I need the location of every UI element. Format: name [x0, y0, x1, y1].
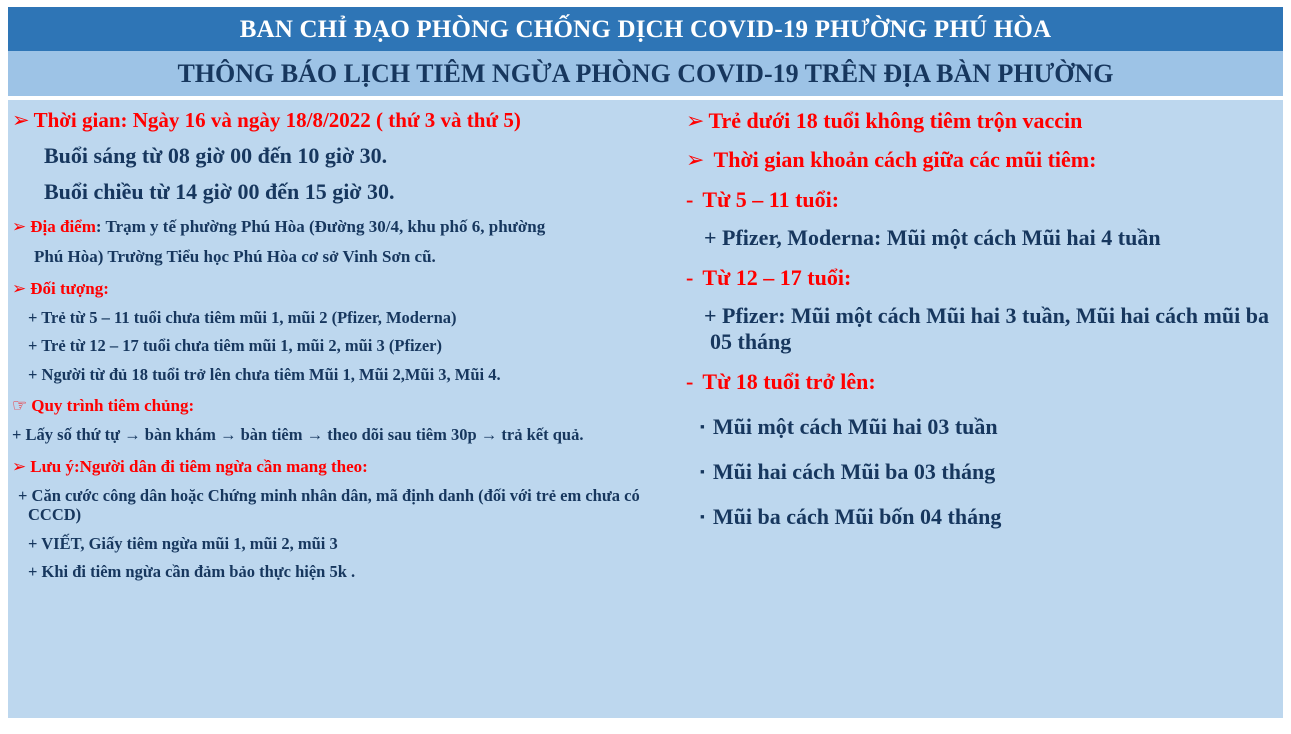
header-secondary-band: THÔNG BÁO LỊCH TIÊM NGỪA PHÒNG COVID-19 … [8, 51, 1283, 96]
age-group-5-11-detail: + Pfizer, Moderna: Mũi một cách Mũi hai … [686, 225, 1277, 251]
dose-interval-item: ▪Mũi một cách Mũi hai 03 tuần [686, 414, 1277, 440]
arrow-bullet-icon: ➢ [12, 279, 26, 299]
left-column: ➢Thời gian: Ngày 16 và ngày 18/8/2022 ( … [8, 100, 686, 718]
content-panel: ➢Thời gian: Ngày 16 và ngày 18/8/2022 ( … [8, 100, 1283, 718]
target-item: + Trẻ từ 12 – 17 tuổi chưa tiêm mũi 1, m… [12, 336, 682, 355]
dose-interval-text: Mũi ba cách Mũi bốn 04 tháng [713, 504, 1002, 529]
age-group-5-11-row: - Từ 5 – 11 tuổi: [686, 187, 1277, 213]
place-value-line2: Phú Hòa) Trường Tiểu học Phú Hòa cơ sở V… [12, 247, 682, 267]
note-item: + Căn cước công dân hoặc Chứng minh nhân… [12, 486, 682, 525]
dose-interval-text: Mũi hai cách Mũi ba 03 tháng [713, 459, 995, 484]
place-value: : Trạm y tế phường Phú Hòa (Đường 30/4, … [96, 217, 545, 236]
age-group-12-17-row: - Từ 12 – 17 tuổi: [686, 265, 1277, 291]
dash-bullet-icon: - [686, 187, 693, 213]
page-subtitle: THÔNG BÁO LỊCH TIÊM NGỪA PHÒNG COVID-19 … [177, 61, 1113, 87]
age-group-12-17-label: Từ 12 – 17 tuổi: [697, 265, 851, 290]
target-heading-text: Đối tượng: [30, 279, 109, 298]
note-item: + Khi đi tiêm ngừa cần đảm bảo thực hiện… [12, 562, 682, 581]
target-item: + Người từ đủ 18 tuổi trở lên chưa tiêm … [12, 365, 682, 384]
dose-interval-item: ▪Mũi hai cách Mũi ba 03 tháng [686, 459, 1277, 485]
interval-heading-text: Thời gian khoản cách giữa các mũi tiêm: [708, 147, 1096, 172]
poster-root: BAN CHỈ ĐẠO PHÒNG CHỐNG DỊCH COVID-19 PH… [0, 0, 1291, 734]
square-bullet-icon: ▪ [700, 419, 705, 435]
place-heading-row: ➢Địa điểm: Trạm y tế phường Phú Hòa (Đườ… [12, 217, 682, 237]
process-heading-text: Quy trình tiêm chủng: [31, 396, 194, 415]
square-bullet-icon: ▪ [700, 509, 705, 525]
right-column: ➢Trẻ dưới 18 tuổi không tiêm trộn vaccin… [686, 100, 1283, 718]
age-group-12-17-detail: + Pfizer: Mũi một cách Mũi hai 3 tuần, M… [686, 303, 1277, 355]
note-heading-text: Lưu ý:Người dân đi tiêm ngừa cần mang th… [30, 457, 368, 476]
target-item: + Trẻ từ 5 – 11 tuổi chưa tiêm mũi 1, mũ… [12, 308, 682, 327]
time-heading-text: Thời gian: Ngày 16 và ngày 18/8/2022 ( t… [34, 108, 521, 132]
afternoon-schedule: Buổi chiều từ 14 giờ 00 đến 15 giờ 30. [12, 179, 682, 205]
no-mix-heading-row: ➢Trẻ dưới 18 tuổi không tiêm trộn vaccin [686, 108, 1277, 134]
age-group-18-plus-row: - Từ 18 tuổi trở lên: [686, 369, 1277, 395]
morning-schedule: Buổi sáng từ 08 giờ 00 đến 10 giờ 30. [12, 143, 682, 169]
square-bullet-icon: ▪ [700, 464, 705, 480]
arrow-bullet-icon: ➢ [12, 108, 30, 133]
target-heading-row: ➢Đối tượng: [12, 279, 682, 299]
age-group-5-11-label: Từ 5 – 11 tuổi: [697, 187, 839, 212]
arrow-bullet-icon: ➢ [686, 108, 704, 134]
note-heading-row: ➢Lưu ý:Người dân đi tiêm ngừa cần mang t… [12, 457, 682, 477]
arrow-bullet-icon: ➢ [12, 457, 26, 477]
arrow-bullet-icon: ➢ [12, 217, 26, 237]
arrow-bullet-icon: ➢ [686, 147, 704, 173]
dose-interval-text: Mũi một cách Mũi hai 03 tuần [713, 414, 998, 439]
pointing-hand-icon: ☞ [12, 396, 27, 416]
dash-bullet-icon: - [686, 265, 693, 291]
page-title: BAN CHỈ ĐẠO PHÒNG CHỐNG DỊCH COVID-19 PH… [240, 17, 1052, 42]
age-group-18-plus-label: Từ 18 tuổi trở lên: [697, 369, 875, 394]
dash-bullet-icon: - [686, 369, 693, 395]
time-heading-row: ➢Thời gian: Ngày 16 và ngày 18/8/2022 ( … [12, 108, 682, 133]
place-label: Địa điểm [30, 217, 96, 236]
process-heading-row: ☞Quy trình tiêm chủng: [12, 396, 682, 416]
process-flow: + Lấy số thứ tự → bàn khám → bàn tiêm → … [12, 425, 682, 444]
dose-interval-item: ▪Mũi ba cách Mũi bốn 04 tháng [686, 504, 1277, 530]
header-primary-band: BAN CHỈ ĐẠO PHÒNG CHỐNG DỊCH COVID-19 PH… [8, 7, 1283, 51]
no-mix-heading-text: Trẻ dưới 18 tuổi không tiêm trộn vaccin [708, 108, 1082, 133]
note-item: + VIẾT, Giấy tiêm ngừa mũi 1, mũi 2, mũi… [12, 534, 682, 553]
interval-heading-row: ➢ Thời gian khoản cách giữa các mũi tiêm… [686, 147, 1277, 173]
